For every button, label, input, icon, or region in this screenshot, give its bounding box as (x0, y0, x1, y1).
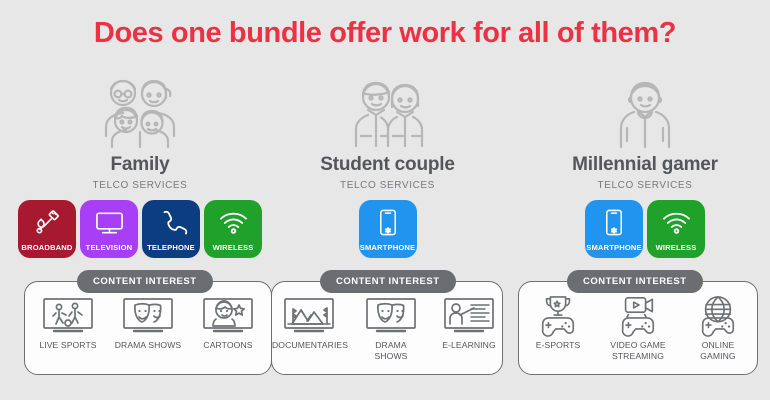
service-tile-group: SMARTPHONE WIRELESS (520, 200, 770, 258)
telco-services-label: TELCO SERVICES (275, 180, 500, 191)
service-tile-smartphone[interactable]: SMARTPHONE (585, 200, 643, 258)
family-icon (5, 70, 275, 148)
content-item-drama-shows[interactable]: DRAMA SHOWS (114, 296, 182, 351)
broadband-cable-icon (35, 209, 60, 236)
content-interest-card-student-couple: CONTENT INTEREST DOCUMENTARIES (271, 281, 503, 375)
service-tile-label: BROADBAND (18, 243, 76, 252)
content-interest-badge: CONTENT INTEREST (320, 270, 456, 293)
page-title: Does one bundle offer work for all of th… (0, 17, 770, 50)
service-tile-telephone[interactable]: TELEPHONE (142, 200, 200, 258)
content-item-e-sports[interactable]: E-SPORTS (524, 296, 592, 351)
service-tile-label: SMARTPHONE (585, 243, 643, 252)
student-couple-icon (275, 70, 500, 148)
persona-name: Family (5, 154, 275, 176)
wifi-icon (662, 209, 691, 236)
persona-millennial-gamer: Millennial gamer TELCO SERVICES SMARTPHO… (520, 70, 770, 258)
smartphone-icon (379, 209, 397, 236)
smartphone-icon (605, 209, 623, 236)
content-interest-badge: CONTENT INTEREST (567, 270, 703, 293)
telco-services-label: TELCO SERVICES (520, 180, 770, 191)
cartoons-screen-icon (194, 296, 262, 336)
trophy-controller-icon (524, 296, 592, 336)
content-item-label: ONLINE GAMING (684, 340, 752, 361)
globe-controller-icon (684, 296, 752, 336)
service-tile-wireless[interactable]: WIRELESS (204, 200, 262, 258)
content-item-live-sports[interactable]: LIVE SPORTS (34, 296, 102, 351)
content-item-label: DRAMA SHOWS (114, 340, 182, 351)
e-learning-screen-icon (436, 296, 502, 336)
television-icon (95, 209, 124, 236)
content-item-group: DOCUMENTARIES (272, 282, 502, 361)
content-interest-badge: CONTENT INTEREST (77, 270, 213, 293)
service-tile-broadband[interactable]: BROADBAND (18, 200, 76, 258)
persona-student-couple: Student couple TELCO SERVICES SMARTPHONE (275, 70, 500, 258)
service-tile-group: SMARTPHONE (275, 200, 500, 258)
telephone-handset-icon (159, 209, 183, 236)
content-item-online-gaming[interactable]: ONLINE GAMING (684, 296, 752, 361)
content-item-label: E-SPORTS (524, 340, 592, 351)
service-tile-television[interactable]: TELEVISION (80, 200, 138, 258)
content-item-video-game-streaming[interactable]: VIDEO GAME STREAMING (604, 296, 672, 361)
millennial-gamer-icon (520, 70, 770, 148)
drama-masks-screen-icon (358, 296, 424, 336)
content-interest-card-family: CONTENT INTEREST LIVE (24, 281, 272, 375)
wifi-icon (219, 209, 248, 236)
persona-name: Millennial gamer (520, 154, 770, 176)
content-item-label: LIVE SPORTS (34, 340, 102, 351)
content-item-label: VIDEO GAME STREAMING (604, 340, 672, 361)
content-interest-card-millennial-gamer: CONTENT INTEREST E-SPO (518, 281, 758, 375)
videocamera-controller-icon (604, 296, 672, 336)
service-tile-wireless[interactable]: WIRELESS (647, 200, 705, 258)
persona-family: Family TELCO SERVICES BROADBAND (5, 70, 275, 258)
content-item-group: E-SPORTS VIDEO GAME (519, 282, 757, 361)
persona-name: Student couple (275, 154, 500, 176)
documentaries-screen-icon (272, 296, 346, 336)
telco-services-label: TELCO SERVICES (5, 180, 275, 191)
content-item-documentaries[interactable]: DOCUMENTARIES (272, 296, 346, 351)
content-item-e-learning[interactable]: E-LEARNING (436, 296, 502, 351)
drama-masks-screen-icon (114, 296, 182, 336)
content-item-label: E-LEARNING (436, 340, 502, 351)
live-sports-screen-icon (34, 296, 102, 336)
content-item-label: CARTOONS (194, 340, 262, 351)
service-tile-label: TELEVISION (80, 243, 138, 252)
infographic-canvas: Does one bundle offer work for all of th… (0, 0, 770, 400)
service-tile-smartphone[interactable]: SMARTPHONE (359, 200, 417, 258)
content-item-drama-shows[interactable]: DRAMA SHOWS (358, 296, 424, 361)
service-tile-group: BROADBAND TELEVISION TELEPHONE (5, 200, 275, 258)
service-tile-label: WIRELESS (204, 243, 262, 252)
content-item-label: DOCUMENTARIES (272, 340, 346, 351)
content-item-label: DRAMA SHOWS (358, 340, 424, 361)
service-tile-label: SMARTPHONE (359, 243, 417, 252)
service-tile-label: WIRELESS (647, 243, 705, 252)
content-item-cartoons[interactable]: CARTOONS (194, 296, 262, 351)
service-tile-label: TELEPHONE (142, 243, 200, 252)
